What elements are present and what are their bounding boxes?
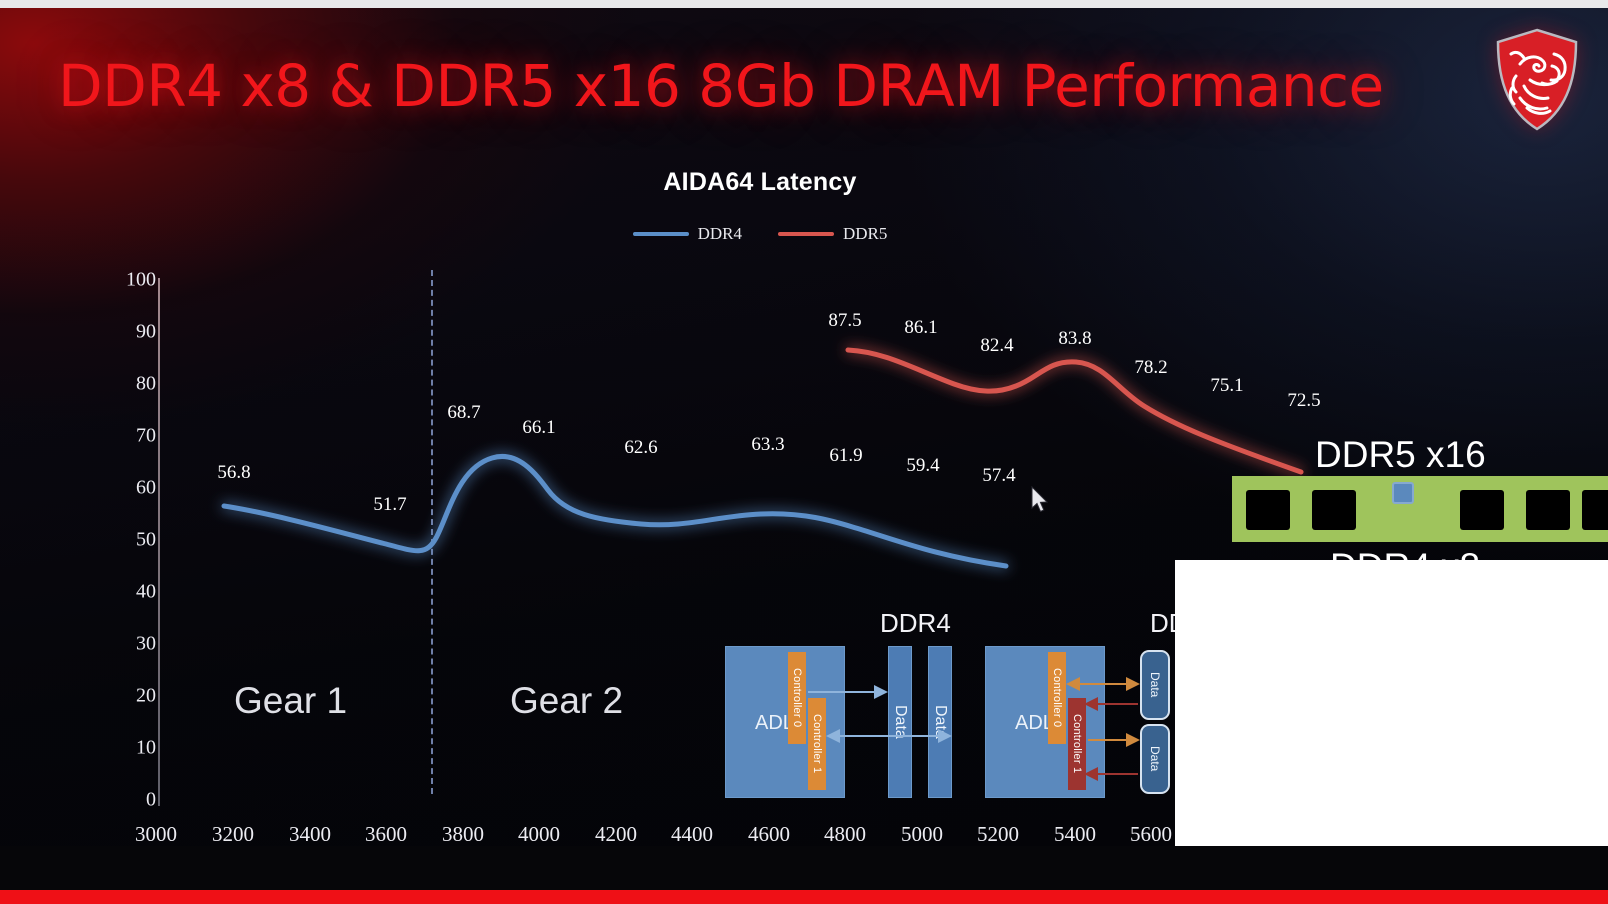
legend-item-ddr4[interactable]: DDR4 xyxy=(633,224,742,244)
data-label-ddr5: 75.1 xyxy=(1210,375,1243,397)
chart-title: AIDA64 Latency xyxy=(0,168,1520,197)
legend-item-ddr5[interactable]: DDR5 xyxy=(778,224,887,244)
data-label-ddr4: 61.9 xyxy=(829,445,862,467)
slide-canvas: DDR4 x8 & DDR5 x16 8Gb DRAM Performance … xyxy=(0,0,1608,904)
data-label-ddr4: 62.6 xyxy=(624,437,657,459)
data-label-ddr5: 87.5 xyxy=(828,310,861,332)
dram-chip xyxy=(1312,490,1356,530)
dram-chip xyxy=(1246,490,1290,530)
bottom-black-bar xyxy=(0,846,1608,890)
x-tick: 3800 xyxy=(442,822,484,847)
x-tick: 3400 xyxy=(289,822,331,847)
bottom-red-bar xyxy=(0,890,1608,904)
x-tick: 4000 xyxy=(518,822,560,847)
data-label-ddr4: 63.3 xyxy=(751,434,784,456)
data-label-ddr5: 83.8 xyxy=(1058,328,1091,350)
x-tick: 3600 xyxy=(365,822,407,847)
chart-legend: DDR4 DDR5 xyxy=(0,224,1520,244)
msi-dragon-shield-logo xyxy=(1494,28,1580,132)
series-line-ddr4 xyxy=(224,456,1006,566)
data-label-ddr4: 68.7 xyxy=(447,402,480,424)
data-label-ddr4: 57.4 xyxy=(982,465,1015,487)
dram-chip xyxy=(1582,490,1608,530)
legend-label-ddr4: DDR4 xyxy=(698,224,742,244)
data-label-ddr4: 51.7 xyxy=(373,494,406,516)
x-tick: 3200 xyxy=(212,822,254,847)
module-caption-ddr5: DDR5 x16 xyxy=(1315,434,1486,476)
legend-swatch-ddr4 xyxy=(633,232,689,236)
page-title: DDR4 x8 & DDR5 x16 8Gb DRAM Performance xyxy=(58,52,1384,120)
data-label-ddr4: 66.1 xyxy=(522,417,555,439)
mouse-pointer-icon xyxy=(1030,486,1050,514)
x-tick: 4200 xyxy=(595,822,637,847)
module-notch-marker xyxy=(1392,482,1414,504)
foreground-window-overlay[interactable] xyxy=(1175,560,1608,890)
data-label-ddr5: 78.2 xyxy=(1134,357,1167,379)
data-label-ddr5: 82.4 xyxy=(980,335,1013,357)
dram-chip xyxy=(1460,490,1504,530)
legend-swatch-ddr5 xyxy=(778,232,834,236)
x-tick: 3000 xyxy=(135,822,177,847)
dram-module-graphic xyxy=(1232,476,1608,542)
data-label-ddr5: 72.5 xyxy=(1287,390,1320,412)
top-white-strip xyxy=(0,0,1608,8)
dram-chip xyxy=(1526,490,1570,530)
data-label-ddr5: 86.1 xyxy=(904,317,937,339)
data-label-ddr4: 59.4 xyxy=(906,455,939,477)
data-label-ddr4: 56.8 xyxy=(217,462,250,484)
legend-label-ddr5: DDR5 xyxy=(843,224,887,244)
series-line-ddr5 xyxy=(848,350,1301,472)
